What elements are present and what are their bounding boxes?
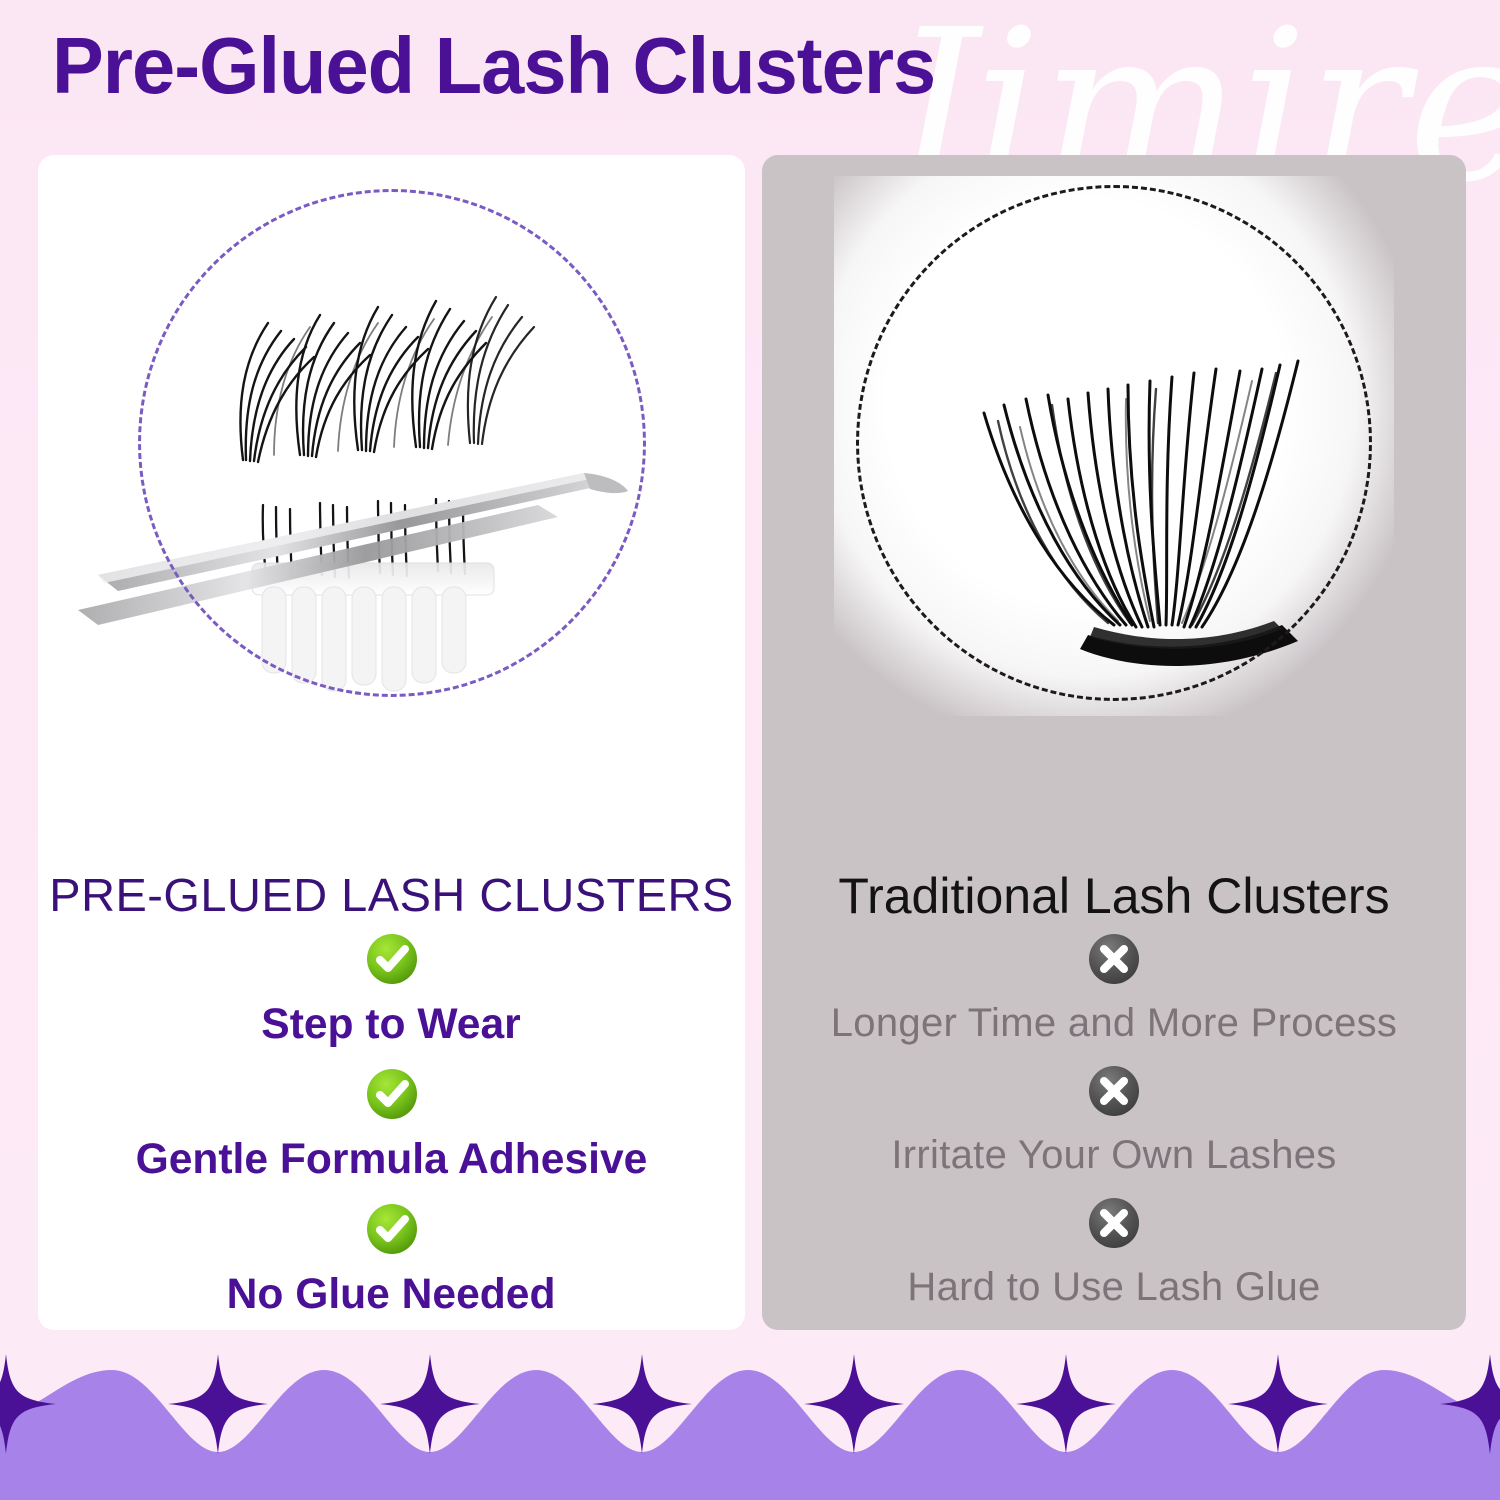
cross-icon [1086,1327,1142,1330]
check-icon [364,1066,420,1122]
list-item: Hard to Use Lash Glue [907,1195,1320,1307]
con-feature-list: Longer Time and More Process Irritate Yo… [762,931,1466,1330]
cross-icon [1086,1063,1142,1119]
list-item: Longer Time and More Process [831,931,1397,1043]
left-dashed-circle [138,189,646,697]
right-dashed-circle [856,185,1372,701]
feature-label: Step to Wear [262,1003,521,1046]
card-pre-glued: PRE-GLUED LASH CLUSTERS [38,155,745,1330]
feature-label: No Glue Needed [227,1273,556,1316]
list-item: Irritate Your Own Lashes [891,1063,1336,1175]
list-item: Hard to Remove and Residue [847,1327,1382,1330]
feature-label: Gentle Formula Adhesive [136,1138,648,1181]
list-item: Gentle Formula Adhesive [133,1066,650,1181]
right-panel-heading: Traditional Lash Clusters [762,867,1466,925]
page-title: Pre-Glued Lash Clusters [52,26,935,106]
card-traditional: Traditional Lash Clusters [762,155,1466,1330]
cross-icon [1086,931,1142,987]
drawback-label: Hard to Use Lash Glue [907,1267,1320,1307]
list-item: Step to Wear [260,931,522,1046]
cross-icon [1086,1195,1142,1251]
left-panel-heading: PRE-GLUED LASH CLUSTERS [38,868,745,922]
drawback-label: Irritate Your Own Lashes [891,1135,1336,1175]
check-icon [364,931,420,987]
check-icon [364,1201,420,1257]
bottom-wave-decoration [0,1340,1500,1500]
header-band: Pre-Glued Lash Clusters Jimire [0,0,1500,150]
infographic-page: Pre-Glued Lash Clusters Jimire [0,0,1500,1500]
list-item: No Glue Needed [225,1201,557,1316]
drawback-label: Longer Time and More Process [831,1003,1397,1043]
pro-feature-list: Step to Wear Gentle Formula Adhesive [38,931,745,1330]
